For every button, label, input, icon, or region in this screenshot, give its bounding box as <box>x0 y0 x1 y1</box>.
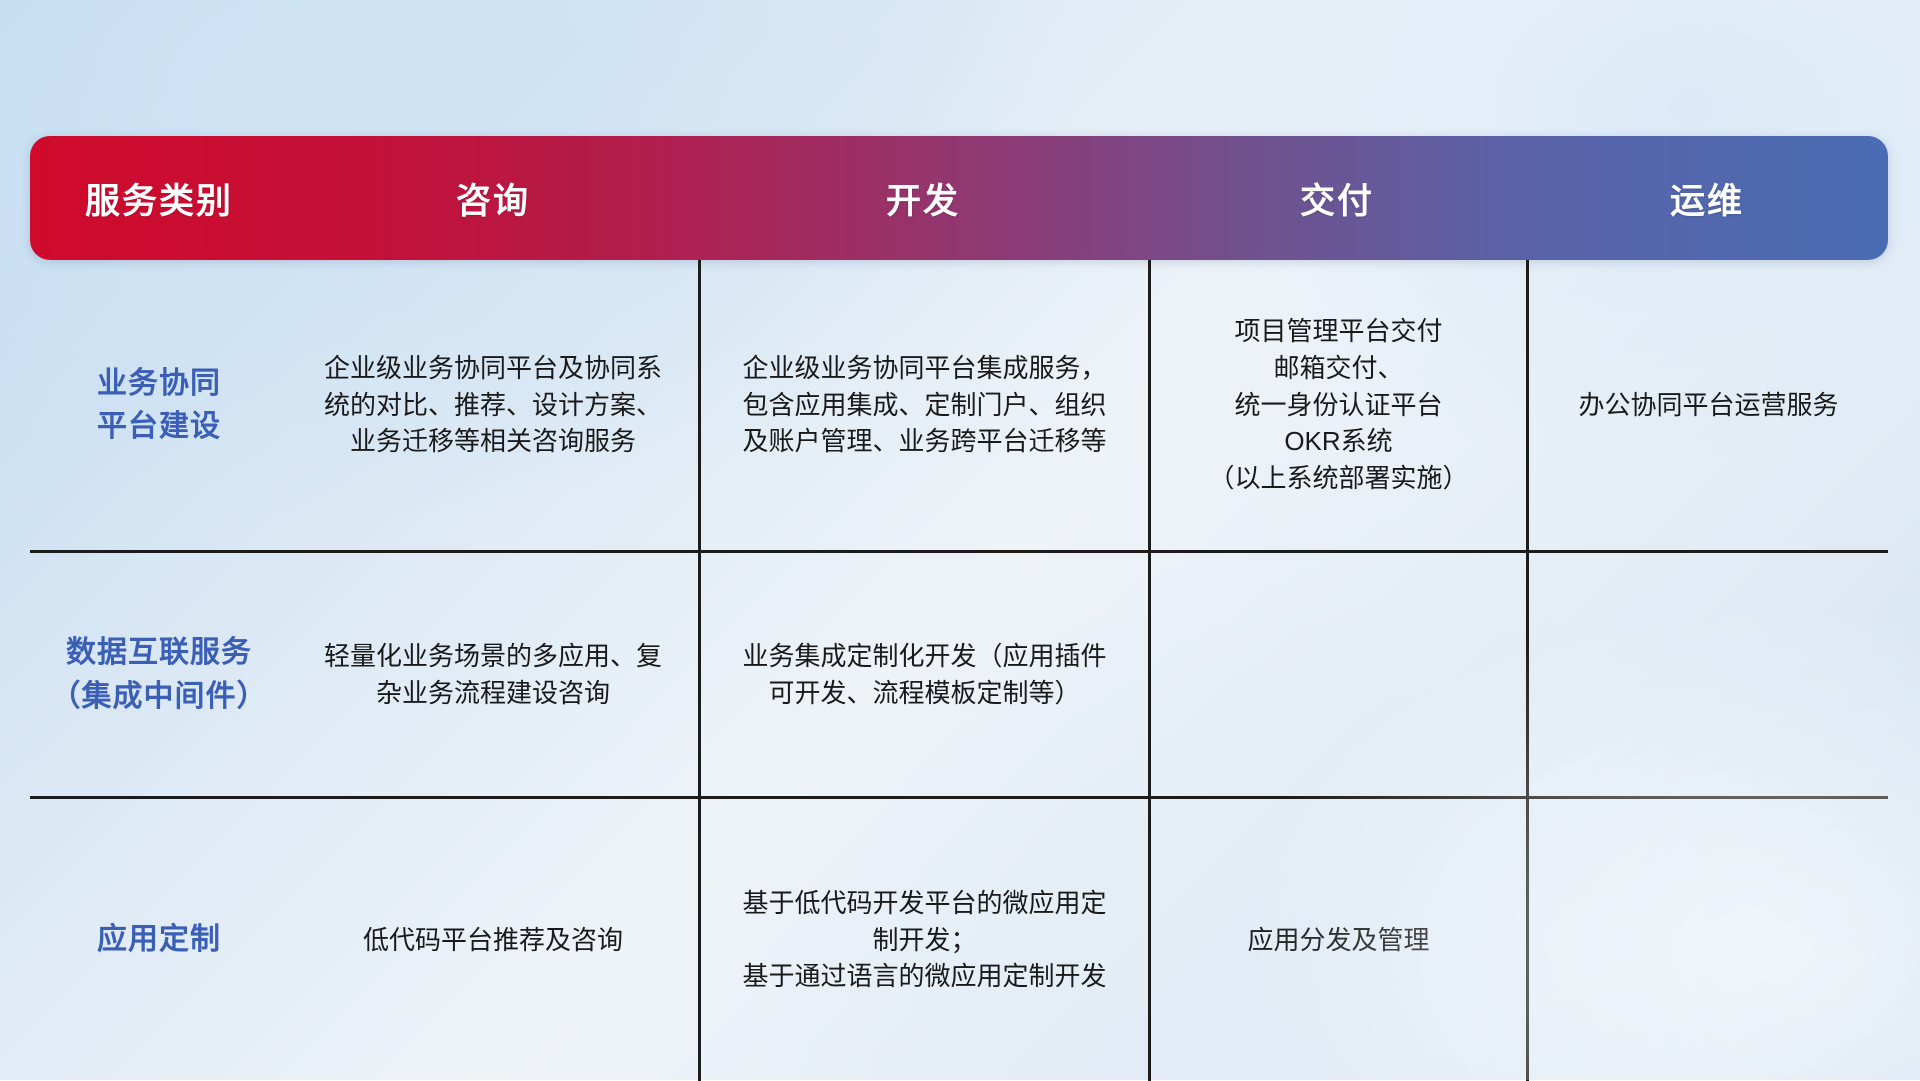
cell-delivery: 项目管理平台交付 邮箱交付、 统一身份认证平台 OKR系统 （以上系统部署实施） <box>1148 260 1526 550</box>
slide-canvas: 服务类别 咨询 开发 交付 运维 业务协同 平台建设 企业级业务协同平台及协同系… <box>0 0 1920 1080</box>
cell-development: 业务集成定制化开发（应用插件 可开发、流程模板定制等） <box>698 553 1148 796</box>
column-header-development: 开发 <box>698 136 1148 260</box>
cell-development: 基于低代码开发平台的微应用定 制开发； 基于通过语言的微应用定制开发 <box>698 799 1148 1081</box>
cell-delivery <box>1148 553 1526 796</box>
cell-consulting: 企业级业务协同平台及协同系 统的对比、推荐、设计方案、 业务迁移等相关咨询服务 <box>288 260 698 550</box>
cell-consulting: 轻量化业务场景的多应用、复 杂业务流程建设咨询 <box>288 553 698 796</box>
cell-consulting: 低代码平台推荐及咨询 <box>288 799 698 1081</box>
table-row: 数据互联服务 （集成中间件） 轻量化业务场景的多应用、复 杂业务流程建设咨询 业… <box>30 550 1888 796</box>
table-row: 应用定制 低代码平台推荐及咨询 基于低代码开发平台的微应用定 制开发； 基于通过… <box>30 796 1888 1081</box>
table-row: 业务协同 平台建设 企业级业务协同平台及协同系 统的对比、推荐、设计方案、 业务… <box>30 260 1888 550</box>
cell-development: 企业级业务协同平台集成服务， 包含应用集成、定制门户、组织 及账户管理、业务跨平… <box>698 260 1148 550</box>
column-header-delivery: 交付 <box>1148 136 1526 260</box>
row-category-label: 业务协同 平台建设 <box>30 260 288 550</box>
column-header-consulting: 咨询 <box>288 136 698 260</box>
cell-delivery: 应用分发及管理 <box>1148 799 1526 1081</box>
column-header-operations: 运维 <box>1526 136 1888 260</box>
table-body: 业务协同 平台建设 企业级业务协同平台及协同系 统的对比、推荐、设计方案、 业务… <box>30 260 1888 1081</box>
cell-operations <box>1526 799 1888 1081</box>
row-category-label: 应用定制 <box>30 799 288 1081</box>
column-header-service-category: 服务类别 <box>30 136 288 260</box>
service-matrix-table: 服务类别 咨询 开发 交付 运维 业务协同 平台建设 企业级业务协同平台及协同系… <box>30 136 1888 954</box>
cell-operations <box>1526 553 1888 796</box>
table-header-row: 服务类别 咨询 开发 交付 运维 <box>30 136 1888 260</box>
row-category-label: 数据互联服务 （集成中间件） <box>30 553 288 796</box>
cell-operations: 办公协同平台运营服务 <box>1526 260 1888 550</box>
